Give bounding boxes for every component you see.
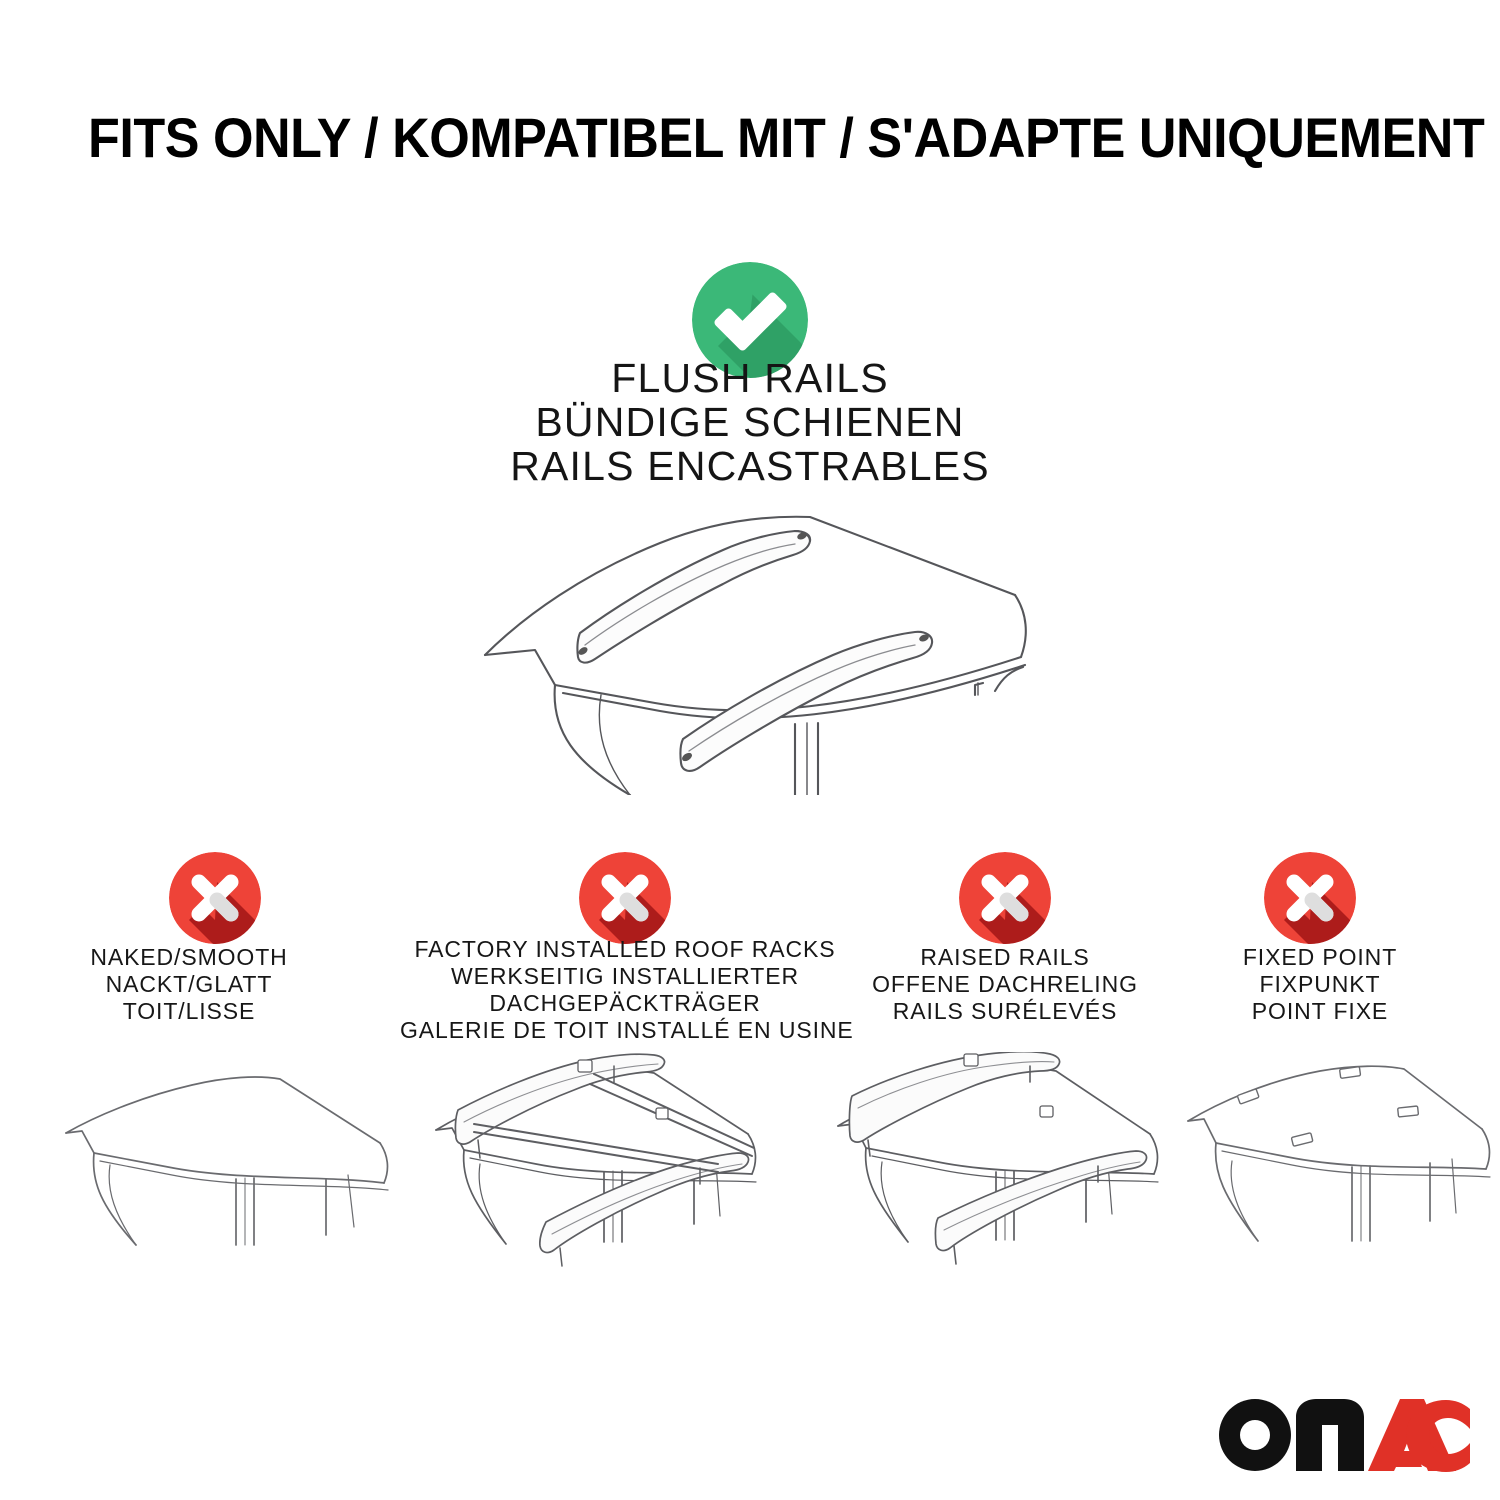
- page-title: FITS ONLY / KOMPATIBEL MIT / S'ADAPTE UN…: [88, 107, 1325, 169]
- car-roof-with-raised-rails-illustration: [818, 1052, 1168, 1287]
- car-roof-with-rails-and-crossbars-illustration: [418, 1052, 768, 1287]
- compatible-line-de: BÜNDIGE SCHIENEN: [0, 400, 1500, 444]
- label-line-fr: POINT FIXE: [1175, 998, 1465, 1025]
- x-circle-svg: [169, 852, 261, 944]
- compatible-caption: FLUSH RAILS BÜNDIGE SCHIENEN RAILS ENCAS…: [0, 356, 1500, 488]
- label-line-de: FIXPUNKT: [1175, 971, 1465, 998]
- x-circle-icon: [1264, 852, 1356, 944]
- label-line-en: FIXED POINT: [1175, 944, 1465, 971]
- x-circle-svg: [579, 852, 671, 944]
- label-line-de: NACKT/GLATT: [24, 971, 354, 998]
- x-circle-svg: [959, 852, 1051, 944]
- x-circle-icon: [169, 852, 261, 944]
- x-circle-icon: [959, 852, 1051, 944]
- label-line-de-1: WERKSEITIG INSTALLIERTER: [400, 963, 850, 990]
- incompatible-label-factory-racks: FACTORY INSTALLED ROOF RACKS WERKSEITIG …: [400, 936, 850, 1044]
- label-line-en: FACTORY INSTALLED ROOF RACKS: [400, 936, 850, 963]
- car-roof-with-fixed-points-illustration: [1180, 1055, 1500, 1285]
- car-roof-with-flush-rails-illustration: [455, 495, 1055, 795]
- car-roof-bare-illustration: [58, 1055, 398, 1285]
- compatible-line-fr: RAILS ENCASTRABLES: [0, 444, 1500, 488]
- label-line-en: RAISED RAILS: [840, 944, 1170, 971]
- omac-logo-svg: [1218, 1395, 1470, 1473]
- label-line-de: OFFENE DACHRELING: [840, 971, 1170, 998]
- label-line-fr: GALERIE DE TOIT INSTALLÉ EN USINE: [400, 1017, 850, 1044]
- x-circle-icon: [579, 852, 671, 944]
- incompatible-label-fixed-point: FIXED POINT FIXPUNKT POINT FIXE: [1175, 944, 1465, 1025]
- omac-logo: [1218, 1395, 1470, 1473]
- compatible-line-en: FLUSH RAILS: [0, 356, 1500, 400]
- label-line-fr: TOIT/LISSE: [24, 998, 354, 1025]
- incompatible-label-raised-rails: RAISED RAILS OFFENE DACHRELING RAILS SUR…: [840, 944, 1170, 1025]
- incompatible-label-naked-smooth: NAKED/SMOOTH NACKT/GLATT TOIT/LISSE: [24, 944, 354, 1025]
- x-circle-svg: [1264, 852, 1356, 944]
- label-line-en: NAKED/SMOOTH: [24, 944, 354, 971]
- label-line-fr: RAILS SURÉLEVÉS: [840, 998, 1170, 1025]
- label-line-de-2: DACHGEPÄCKTRÄGER: [400, 990, 850, 1017]
